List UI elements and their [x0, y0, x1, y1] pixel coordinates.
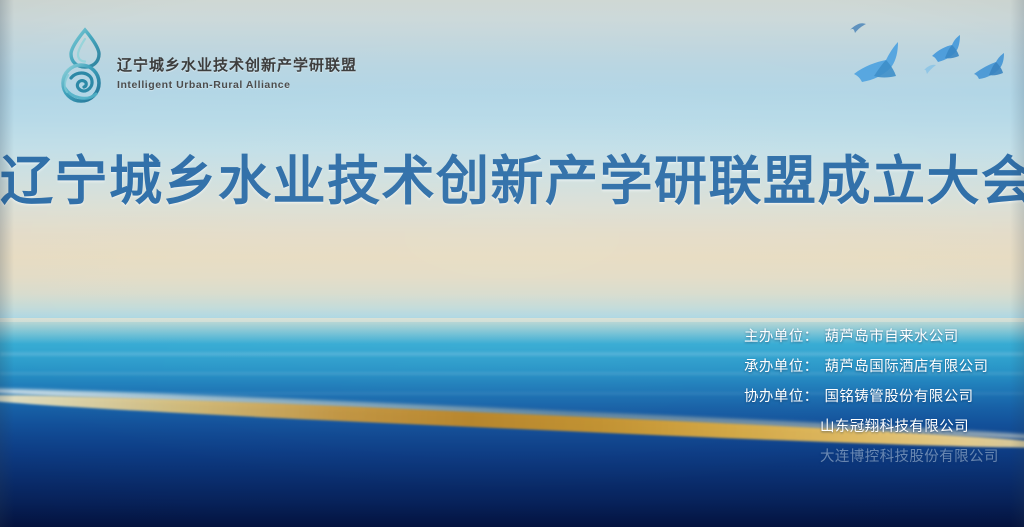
page-title: 辽宁城乡水业技术创新产学研联盟成立大会	[0, 139, 1024, 215]
credit-label: 承办单位：	[744, 359, 819, 375]
credit-line: 协办单位：国铭铸管股份有限公司	[744, 382, 1004, 412]
water-drop-swirl-logo-icon	[55, 26, 109, 104]
conference-backdrop-banner: 辽宁城乡水业技术创新产学研联盟 Intelligent Urban-Rural …	[0, 0, 1024, 527]
organizer-credits-block: 主办单位：葫芦岛市自来水公司 承办单位：葫芦岛国际酒店有限公司 协办单位：国铭铸…	[744, 322, 1004, 472]
credit-label: 协办单位：	[744, 389, 819, 405]
logo-text-block: 辽宁城乡水业技术创新产学研联盟 Intelligent Urban-Rural …	[117, 39, 357, 91]
credit-line: 大连博控科技股份有限公司	[744, 442, 1004, 472]
credit-value: 山东冠翔科技有限公司	[820, 419, 969, 435]
flying-birds-silhouette	[828, 8, 1018, 100]
credit-label: 主办单位：	[744, 329, 819, 345]
credit-line: 山东冠翔科技有限公司	[744, 412, 1004, 442]
credit-line: 承办单位：葫芦岛国际酒店有限公司	[744, 352, 1004, 382]
alliance-logo-lockup: 辽宁城乡水业技术创新产学研联盟 Intelligent Urban-Rural …	[55, 26, 357, 104]
credit-value: 大连博控科技股份有限公司	[820, 449, 999, 465]
credit-value: 葫芦岛市自来水公司	[825, 329, 959, 345]
logo-english-name: Intelligent Urban-Rural Alliance	[117, 79, 357, 91]
credit-value: 葫芦岛国际酒店有限公司	[825, 359, 989, 375]
credit-line: 主办单位：葫芦岛市自来水公司	[744, 322, 1004, 352]
logo-chinese-name: 辽宁城乡水业技术创新产学研联盟	[117, 57, 357, 75]
credit-value: 国铭铸管股份有限公司	[825, 389, 974, 405]
